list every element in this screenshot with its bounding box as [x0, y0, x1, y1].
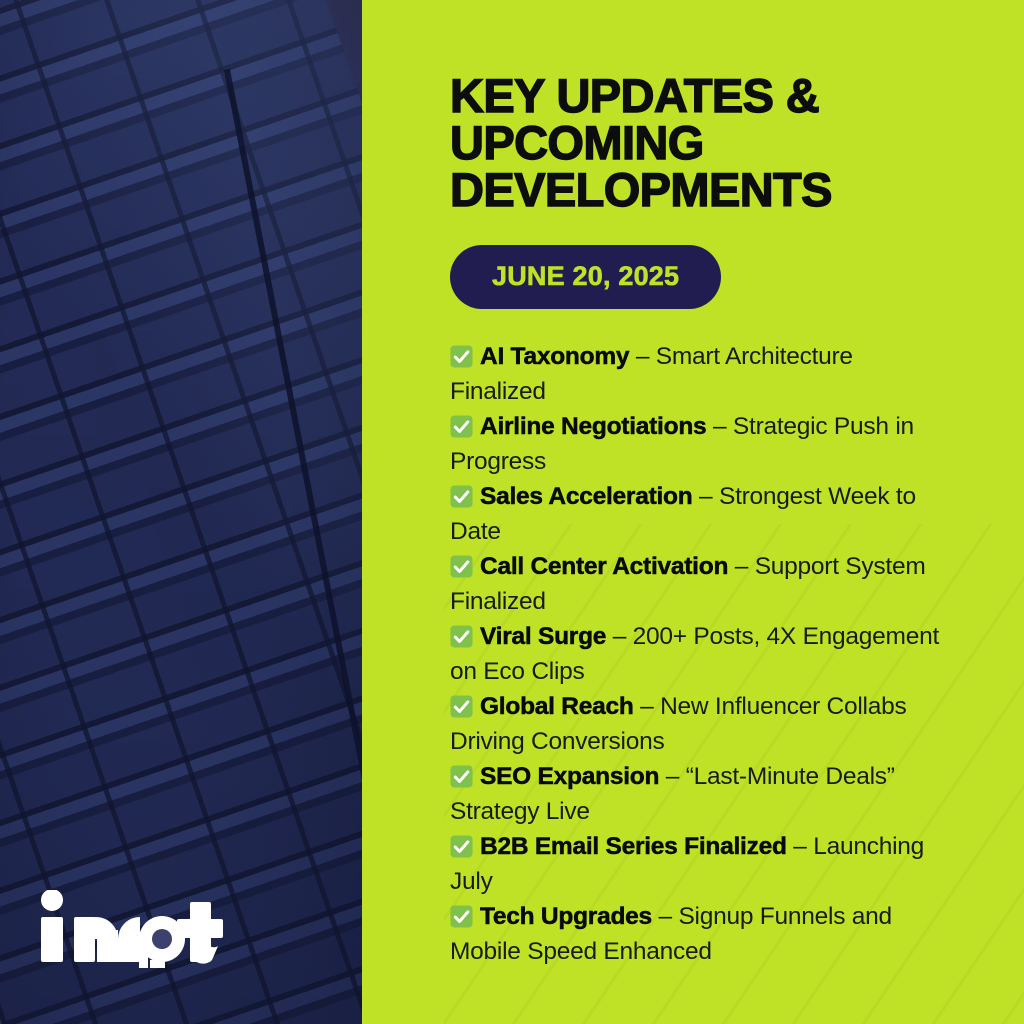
- updates-list: AI Taxonomy – Smart Architecture Finaliz…: [450, 339, 950, 969]
- list-item-title: AI Taxonomy: [480, 343, 629, 370]
- list-item: Call Center Activation – Support System …: [450, 549, 950, 619]
- white-check-mark-icon: [450, 343, 473, 366]
- building-photo: [0, 0, 362, 1024]
- list-item-separator: –: [634, 693, 661, 720]
- white-check-mark-icon: [450, 553, 473, 576]
- list-item-separator: –: [692, 483, 719, 510]
- list-item-separator: –: [787, 833, 814, 860]
- impt-logo-mark: [40, 890, 225, 968]
- page-title: KEY UPDATES & UPCOMING DEVELOPMENTS: [450, 72, 950, 213]
- list-item-title: SEO Expansion: [480, 763, 659, 790]
- list-item: B2B Email Series Finalized – Launching J…: [450, 829, 950, 899]
- page-title-line-1: KEY UPDATES &: [450, 69, 819, 122]
- white-check-mark-icon: [450, 693, 473, 716]
- list-item-separator: –: [728, 553, 755, 580]
- white-check-mark-icon: [450, 763, 473, 786]
- list-item-title: Airline Negotiations: [480, 413, 706, 440]
- list-item-title: Viral Surge: [480, 623, 606, 650]
- list-item-separator: –: [652, 903, 679, 930]
- list-item-title: B2B Email Series Finalized: [480, 833, 787, 860]
- white-check-mark-icon: [450, 623, 473, 646]
- list-item-title: Call Center Activation: [480, 553, 728, 580]
- list-item: Tech Upgrades – Signup Funnels and Mobil…: [450, 899, 950, 969]
- list-item-title: Tech Upgrades: [480, 903, 652, 930]
- white-check-mark-icon: [450, 483, 473, 506]
- white-check-mark-icon: [450, 833, 473, 856]
- list-item: Sales Acceleration – Strongest Week to D…: [450, 479, 950, 549]
- list-item-separator: –: [706, 413, 733, 440]
- white-check-mark-icon: [450, 413, 473, 436]
- social-post-graphic: KEY UPDATES & UPCOMING DEVELOPMENTS JUNE…: [0, 0, 1024, 1024]
- list-item: AI Taxonomy – Smart Architecture Finaliz…: [450, 339, 950, 409]
- content-panel: KEY UPDATES & UPCOMING DEVELOPMENTS JUNE…: [362, 0, 1024, 1024]
- list-item: Viral Surge – 200+ Posts, 4X Engagement …: [450, 619, 950, 689]
- list-item-separator: –: [629, 343, 656, 370]
- white-check-mark-icon: [450, 903, 473, 926]
- photo-vignette: [0, 0, 362, 1024]
- date-badge: JUNE 20, 2025: [450, 245, 721, 309]
- impt-logo: [40, 890, 225, 968]
- list-item-title: Global Reach: [480, 693, 634, 720]
- list-item-separator: –: [606, 623, 633, 650]
- list-item: Global Reach – New Influencer Collabs Dr…: [450, 689, 950, 759]
- list-item: SEO Expansion – “Last-Minute Deals” Stra…: [450, 759, 950, 829]
- list-item-separator: –: [659, 763, 686, 790]
- panel-content: KEY UPDATES & UPCOMING DEVELOPMENTS JUNE…: [362, 0, 1024, 969]
- list-item-title: Sales Acceleration: [480, 483, 692, 510]
- list-item: Airline Negotiations – Strategic Push in…: [450, 409, 950, 479]
- page-title-line-3: DEVELOPMENTS: [450, 163, 832, 216]
- page-title-line-2: UPCOMING: [450, 116, 704, 169]
